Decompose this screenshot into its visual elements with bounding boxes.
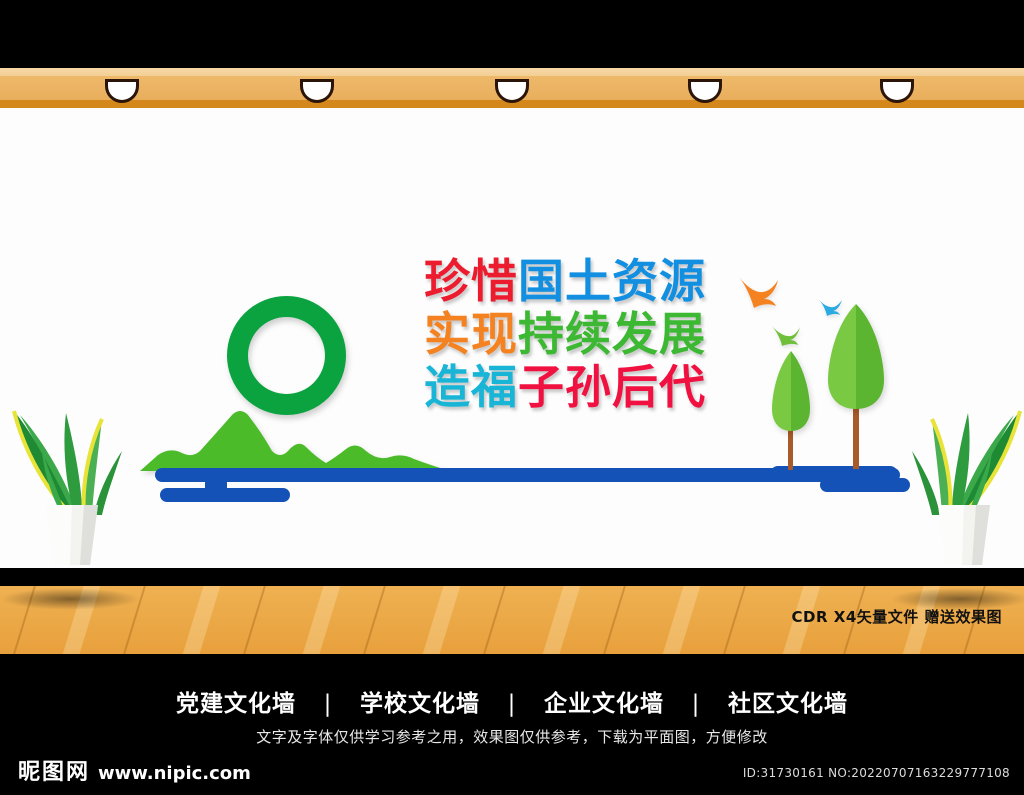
tree-trunk-small xyxy=(788,428,793,470)
headline-line-3: 造福子孙后代 xyxy=(355,364,775,412)
tree-small-icon xyxy=(772,351,810,431)
nav-item-0[interactable]: 党建文化墙 xyxy=(176,684,296,718)
plant-right-pot xyxy=(938,505,990,565)
tree-trunk-large xyxy=(853,405,859,469)
sun-ring-icon xyxy=(227,296,346,415)
water-line-right-bottom xyxy=(820,478,910,492)
nav-item-3[interactable]: 社区文化墙 xyxy=(728,684,848,718)
format-note: CDR X4矢量文件 赠送效果图 xyxy=(792,606,1002,627)
asset-id-label: ID:31730161 NO:20220707163229777108 xyxy=(743,766,1010,780)
headline-2-seg-1: 实现 xyxy=(424,307,518,361)
plant-shadow-left xyxy=(0,588,140,610)
plant-left-leaves xyxy=(14,411,122,515)
headline-line-2: 实现持续发展 xyxy=(355,311,775,359)
poster-canvas: 珍惜国土资源 实现持续发展 造福子孙后代 xyxy=(0,0,1024,795)
nav-item-1[interactable]: 学校文化墙 xyxy=(360,684,480,718)
water-line-left xyxy=(160,488,290,502)
plant-left xyxy=(6,393,136,568)
nav-separator: | xyxy=(489,691,535,717)
brand-website[interactable]: www.nipic.com xyxy=(98,765,251,784)
top-black-bar xyxy=(0,0,1024,68)
headline-1-seg-1: 珍惜 xyxy=(424,254,518,308)
nav-item-2[interactable]: 企业文化墙 xyxy=(544,684,664,718)
wall-surface: 珍惜国土资源 实现持续发展 造福子孙后代 xyxy=(0,108,1024,568)
headline-line-1: 珍惜国土资源 xyxy=(355,258,775,306)
bird-blue-icon xyxy=(818,298,842,316)
headline-1-seg-2: 国土资源 xyxy=(518,254,706,308)
plant-right xyxy=(898,393,1024,568)
brand-block[interactable]: 昵图网 www.nipic.com xyxy=(18,762,251,784)
brand-name: 昵图网 xyxy=(18,762,90,784)
footer-nav: 党建文化墙 | 学校文化墙 | 企业文化墙 | 社区文化墙 xyxy=(0,684,1024,718)
disclaimer-text: 文字及字体仅供学习参考之用，效果图仅供参考，下载为平面图，方便修改 xyxy=(0,726,1024,747)
headline-3-seg-1: 造福 xyxy=(424,360,518,414)
trim-highlight xyxy=(0,68,1024,76)
nav-separator: | xyxy=(305,691,351,717)
plant-right-leaves xyxy=(912,411,1020,515)
headline-3-seg-2: 子孙后代 xyxy=(518,360,706,414)
tree-large-icon xyxy=(828,304,884,409)
headline-block: 珍惜国土资源 实现持续发展 造福子孙后代 xyxy=(355,258,775,411)
plant-left-pot xyxy=(46,505,98,565)
bird-green-icon xyxy=(771,324,801,346)
headline-2-seg-2: 持续发展 xyxy=(518,307,706,361)
nav-separator: | xyxy=(673,691,719,717)
footer-panel: 党建文化墙 | 学校文化墙 | 企业文化墙 | 社区文化墙 文字及字体仅供学习参… xyxy=(0,654,1024,795)
ceiling-trim xyxy=(0,68,1024,108)
baseboard xyxy=(0,568,1024,586)
